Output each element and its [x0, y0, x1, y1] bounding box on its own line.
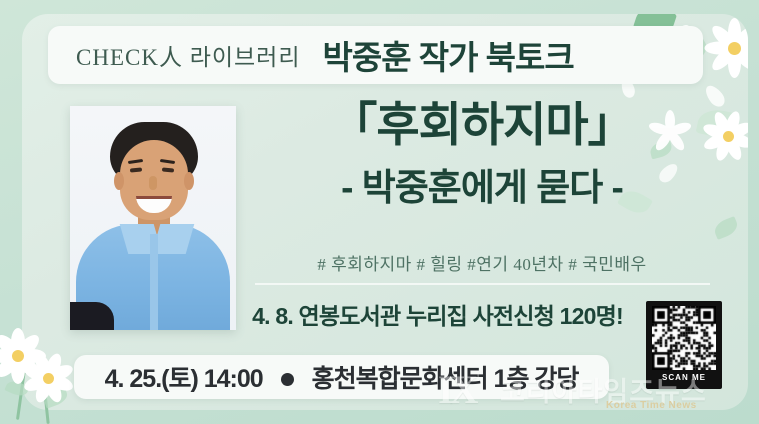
petal-icon [702, 82, 728, 110]
registration-notice: 4. 8. 연봉도서관 누리집 사전신청 120명! [240, 297, 635, 331]
schedule-venue: 홍천복합문화센터 1층 강당 [312, 365, 579, 393]
photo-shadow [70, 302, 114, 330]
photo-nose [149, 176, 157, 190]
schedule-banner: 4. 25.(토) 14:00 홍천복합문화센터 1층 강당 [74, 355, 609, 399]
event-poster: CHECK人 라이브러리 박중훈 작가 북토크 「후회하지마」 - 박중훈에게 … [0, 0, 759, 424]
section-divider [255, 283, 710, 285]
book-subtitle: - 박중훈에게 묻다 - [262, 157, 702, 211]
photo-placket [150, 234, 158, 330]
title-block: 「후회하지마」 - 박중훈에게 묻다 - [262, 100, 702, 211]
qr-code-image[interactable] [652, 306, 716, 370]
header-banner: CHECK人 라이브러리 박중훈 작가 북토크 [48, 26, 703, 84]
qr-code-block[interactable]: SCAN ME [646, 301, 722, 389]
bullet-separator-icon [281, 373, 294, 386]
book-title: 「후회하지마」 [262, 100, 702, 151]
leaf-icon [712, 216, 740, 240]
author-photo [70, 106, 236, 330]
qr-scan-label: SCAN ME [662, 373, 706, 382]
page-title: 박중훈 작가 북토크 [323, 31, 574, 79]
schedule-text: 4. 25.(토) 14:00 홍천복합문화센터 1층 강당 [105, 359, 579, 395]
photo-ear-left [114, 172, 124, 190]
brand-label: CHECK人 라이브러리 [76, 38, 301, 72]
schedule-date: 4. 25.(토) 14:00 [105, 365, 263, 393]
hashtag-line: # 후회하지마 # 힐링 #연기 40년차 # 국민배우 [262, 250, 702, 275]
photo-ear-right [184, 172, 194, 190]
